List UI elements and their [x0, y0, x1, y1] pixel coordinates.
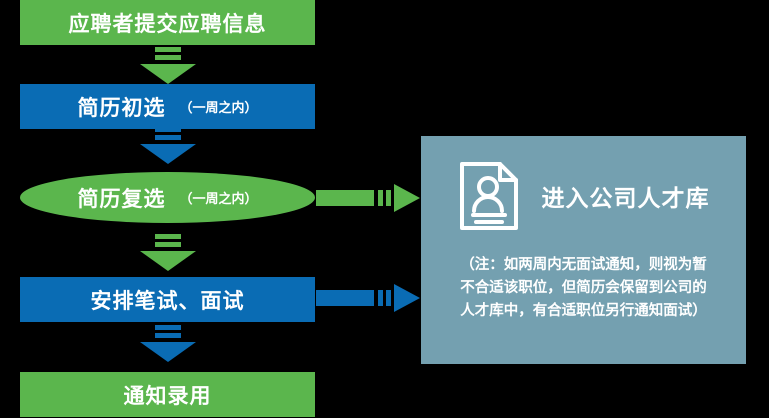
talent-pool-panel: 进入公司人才库 （注：如两周内无面试通知，则视为暂 不合适该职位，但简历会保留到… — [421, 136, 746, 364]
stage-submit-label: 应聘者提交应聘信息 — [69, 8, 267, 38]
talent-pool-note: （注：如两周内无面试通知，则视为暂 不合适该职位，但简历会保留到公司的 人才库中… — [439, 254, 728, 323]
talent-pool-note-line-2: 不合适该职位，但简历会保留到公司的 — [439, 277, 728, 300]
resume-person-document-icon — [458, 160, 520, 232]
stage-screen2: 简历复选 （一周之内） — [20, 172, 315, 223]
talent-pool-note-line-3: 人才库中，有合适职位另行通知面试） — [439, 300, 728, 323]
stage-offer-label: 通知录用 — [124, 380, 212, 410]
connector-arrow-screen2-to-panel — [316, 182, 421, 214]
connector-arrow-interview-to-panel — [316, 282, 421, 314]
stage-screen1-label: 简历初选 — [77, 92, 165, 122]
stage-submit: 应聘者提交应聘信息 — [20, 0, 315, 45]
connector-arrow-submit-to-screen1 — [0, 45, 769, 85]
stage-screen2-label: 简历复选 — [77, 183, 165, 213]
stage-interview: 安排笔试、面试 — [20, 277, 315, 322]
stage-screen1-note: （一周之内） — [179, 97, 257, 116]
stage-screen1: 简历初选 （一周之内） — [20, 84, 315, 129]
talent-pool-title: 进入公司人才库 — [542, 179, 710, 213]
talent-pool-note-line-1: （注：如两周内无面试通知，则视为暂 — [439, 254, 728, 277]
stage-screen2-note: （一周之内） — [179, 188, 257, 207]
talent-pool-header: 进入公司人才库 — [421, 150, 746, 242]
stage-interview-label: 安排笔试、面试 — [91, 285, 245, 315]
stage-offer: 通知录用 — [20, 372, 315, 417]
